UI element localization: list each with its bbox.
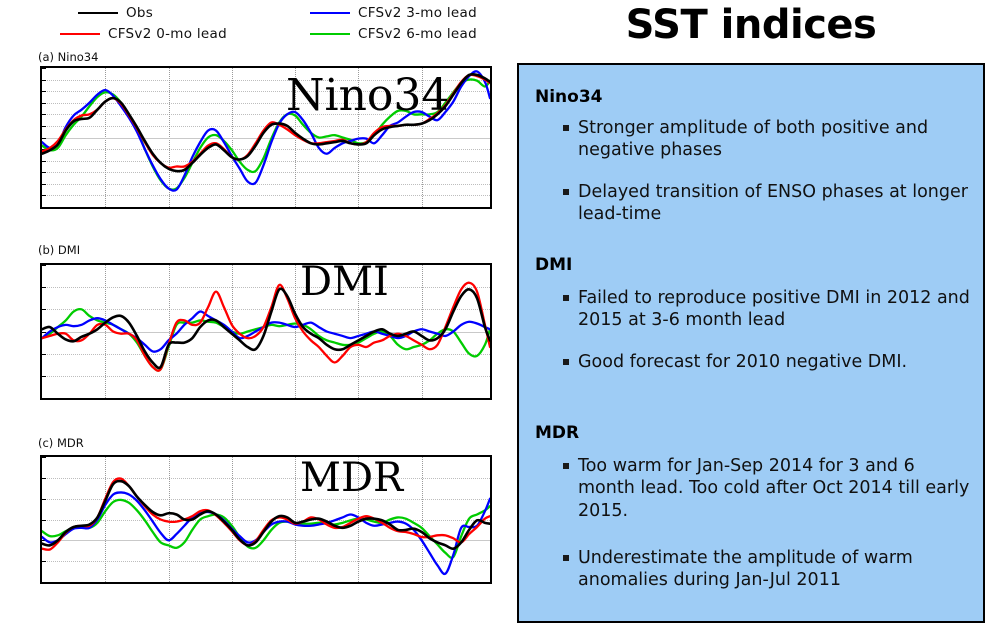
- bullet-text: Underestimate the amplitude of warm anom…: [578, 547, 971, 592]
- summary-panel: Nino34Stronger amplitude of both positiv…: [517, 63, 985, 623]
- bullet-item: Good forecast for 2010 negative DMI.: [563, 351, 971, 373]
- bullet-square-icon: [563, 359, 569, 365]
- legend-swatch-obs: [78, 12, 118, 14]
- panel-caption-a: (a) Nino34: [38, 50, 98, 64]
- bullet-square-icon: [563, 463, 569, 469]
- legend: Obs CFSv2 0-mo lead CFSv2 3-mo lead CFSv…: [60, 4, 500, 46]
- legend-swatch-cfsv2-3mo: [310, 12, 350, 14]
- plot-area-mdr: 21.510.50−0.5−12009201020112012201320142…: [40, 455, 492, 584]
- plot-title-nino34: Nino34: [286, 74, 449, 118]
- section-heading-mdr: MDR: [535, 423, 579, 443]
- bullet-text: Too warm for Jan-Sep 2014 for 3 and 6 mo…: [578, 455, 971, 522]
- legend-label-cfsv2-0mo: CFSv2 0-mo lead: [108, 26, 227, 42]
- legend-label-obs: Obs: [126, 5, 153, 21]
- plot-title-mdr: MDR: [300, 458, 403, 498]
- bullet-square-icon: [563, 189, 569, 195]
- series-container: [42, 457, 490, 582]
- bullet-text: Stronger amplitude of both positive and …: [578, 117, 971, 162]
- legend-swatch-cfsv2-0mo: [60, 33, 100, 35]
- section-heading-nino34: Nino34: [535, 87, 603, 107]
- series-container: [42, 265, 490, 398]
- bullet-item: Delayed transition of ENSO phases at lon…: [563, 181, 971, 226]
- plot-inner-mdr: 21.510.50−0.5−12009201020112012201320142…: [42, 457, 490, 582]
- section-heading-dmi: DMI: [535, 255, 572, 275]
- plot-inner-dmi: 1.510.50−0.5−1−1.52009201020112012201320…: [42, 265, 490, 398]
- plot-title-dmi: DMI: [300, 262, 389, 302]
- bullet-square-icon: [563, 295, 569, 301]
- legend-item-cfsv2-6mo: CFSv2 6-mo lead: [310, 25, 477, 43]
- bullet-text: Delayed transition of ENSO phases at lon…: [578, 181, 971, 226]
- plot-area-dmi: 1.510.50−0.5−1−1.52009201020112012201320…: [40, 263, 492, 400]
- legend-item-obs: Obs: [78, 4, 153, 22]
- bullet-item: Stronger amplitude of both positive and …: [563, 117, 971, 162]
- legend-label-cfsv2-3mo: CFSv2 3-mo lead: [358, 5, 477, 21]
- legend-item-cfsv2-3mo: CFSv2 3-mo lead: [310, 4, 477, 22]
- panel-caption-c: (c) MDR: [38, 436, 84, 450]
- bullet-text: Failed to reproduce positive DMI in 2012…: [578, 287, 971, 332]
- bullet-square-icon: [563, 555, 569, 561]
- legend-swatch-cfsv2-6mo: [310, 33, 350, 35]
- legend-item-cfsv2-0mo: CFSv2 0-mo lead: [60, 25, 227, 43]
- page-title: SST indices: [517, 2, 985, 48]
- bullet-item: Failed to reproduce positive DMI in 2012…: [563, 287, 971, 332]
- legend-label-cfsv2-6mo: CFSv2 6-mo lead: [358, 26, 477, 42]
- bullet-item: Underestimate the amplitude of warm anom…: [563, 547, 971, 592]
- bullet-square-icon: [563, 125, 569, 131]
- bullet-text: Good forecast for 2010 negative DMI.: [578, 351, 907, 373]
- bullet-item: Too warm for Jan-Sep 2014 for 3 and 6 mo…: [563, 455, 971, 522]
- panel-caption-b: (b) DMI: [38, 243, 80, 257]
